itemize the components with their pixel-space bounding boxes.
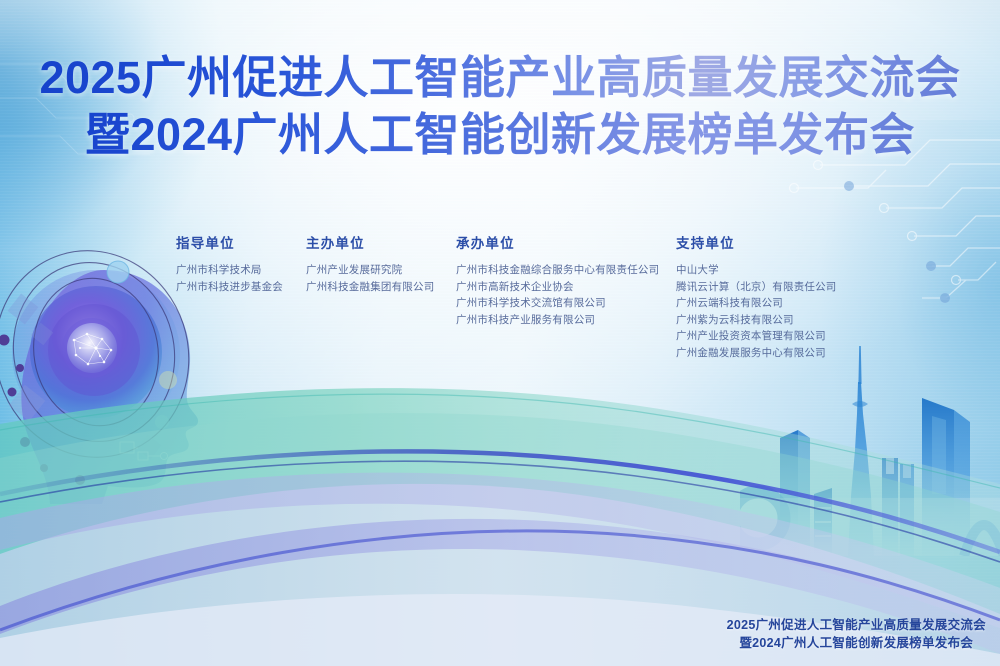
unit-item: 广州科技金融集团有限公司 bbox=[306, 279, 434, 296]
unit-item: 广州市科学技术交流馆有限公司 bbox=[456, 295, 659, 312]
unit-item: 广州市高新技术企业协会 bbox=[456, 279, 659, 296]
unit-item: 广州金融发展服务中心有限公司 bbox=[676, 345, 837, 362]
unit-item: 广州产业发展研究院 bbox=[306, 262, 434, 279]
unit-heading-support: 支持单位 bbox=[676, 232, 837, 252]
unit-heading-guide: 指导单位 bbox=[176, 232, 283, 252]
unit-item: 中山大学 bbox=[676, 262, 837, 279]
event-title-line-2: 暨2024广州人工智能创新发展榜单发布会 bbox=[0, 111, 1000, 159]
unit-item: 广州产业投资资本管理有限公司 bbox=[676, 328, 837, 345]
unit-item: 广州市科技进步基金会 bbox=[176, 279, 283, 296]
bottom-caption-block: 2025广州促进人工智能产业高质量发展交流会 暨2024广州人工智能创新发展榜单… bbox=[727, 616, 986, 652]
unit-item: 广州云端科技有限公司 bbox=[676, 295, 837, 312]
unit-heading-organizer: 承办单位 bbox=[456, 232, 659, 252]
unit-item: 广州市科学技术局 bbox=[176, 262, 283, 279]
unit-column-guide: 指导单位 广州市科学技术局 广州市科技进步基金会 bbox=[176, 232, 283, 295]
unit-item: 腾讯云计算（北京）有限责任公司 bbox=[676, 279, 837, 296]
unit-item: 广州市科技金融综合服务中心有限责任公司 bbox=[456, 262, 659, 279]
unit-heading-host: 主办单位 bbox=[306, 232, 434, 252]
event-backdrop-screen: 2025广州促进人工智能产业高质量发展交流会 暨2024广州人工智能创新发展榜单… bbox=[0, 0, 1000, 666]
unit-item: 广州紫为云科技有限公司 bbox=[676, 312, 837, 329]
event-title-line-1: 2025广州促进人工智能产业高质量发展交流会 bbox=[0, 54, 1000, 102]
unit-item: 广州市科技产业服务有限公司 bbox=[456, 312, 659, 329]
event-title-block: 2025广州促进人工智能产业高质量发展交流会 暨2024广州人工智能创新发展榜单… bbox=[0, 54, 1000, 158]
unit-column-host: 主办单位 广州产业发展研究院 广州科技金融集团有限公司 bbox=[306, 232, 434, 295]
unit-column-organizer: 承办单位 广州市科技金融综合服务中心有限责任公司 广州市高新技术企业协会 广州市… bbox=[456, 232, 659, 328]
unit-column-support: 支持单位 中山大学 腾讯云计算（北京）有限责任公司 广州云端科技有限公司 广州紫… bbox=[676, 232, 837, 361]
bottom-caption-line-2: 暨2024广州人工智能创新发展榜单发布会 bbox=[727, 634, 986, 652]
bottom-caption-line-1: 2025广州促进人工智能产业高质量发展交流会 bbox=[727, 616, 986, 634]
